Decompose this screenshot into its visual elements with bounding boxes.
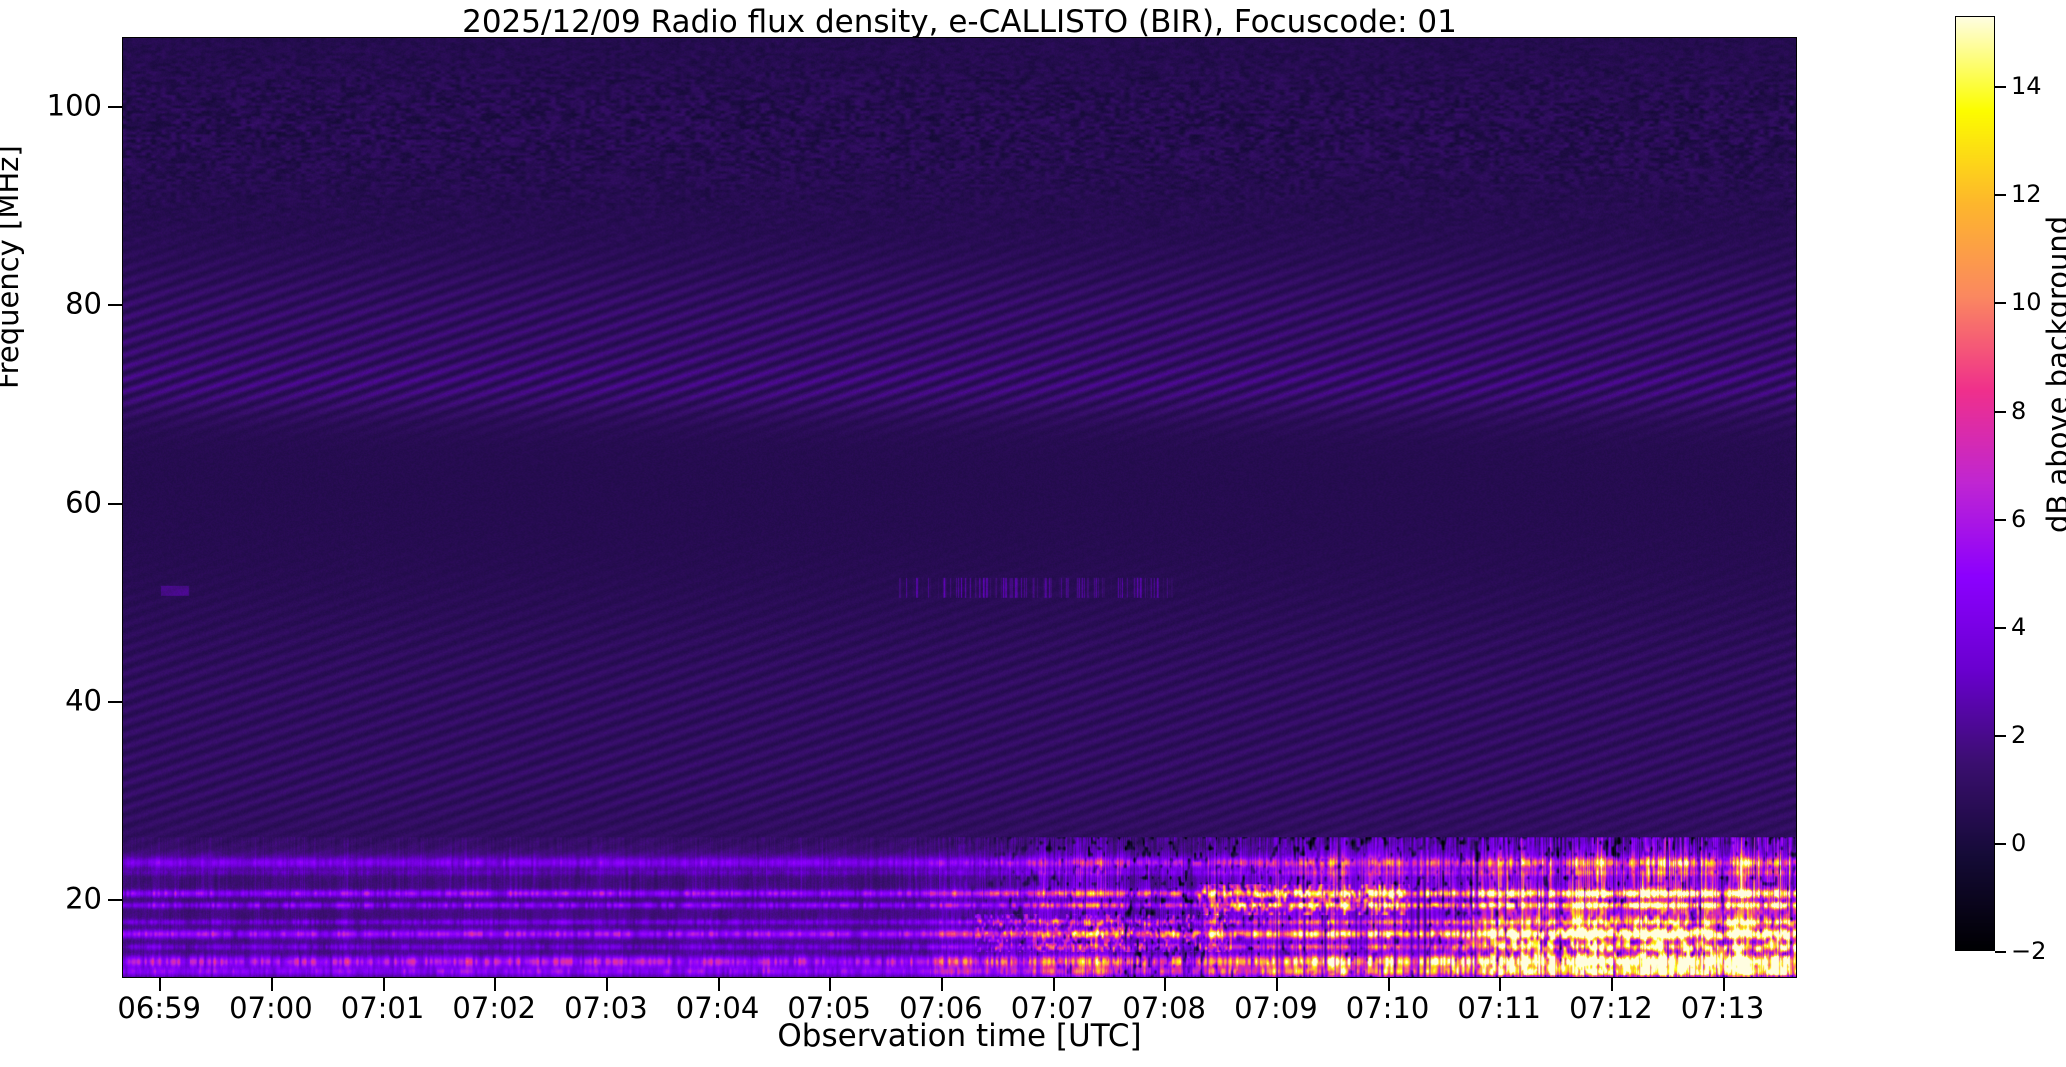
colorbar[interactable]: 14121086420−2 [1955, 16, 1995, 951]
colorbar-label: dB above background [2041, 216, 2066, 533]
y-tick-mark [108, 304, 122, 306]
x-tick-mark [159, 978, 161, 991]
x-axis-label: Observation time [UTC] [122, 1018, 1797, 1054]
colorbar-tick-label: 2 [2011, 723, 2026, 747]
colorbar-gradient [1955, 16, 1995, 951]
x-tick-mark [383, 978, 385, 991]
y-axis-label: Frequency [MHz] [0, 145, 25, 389]
colorbar-tick-label: 8 [2011, 399, 2026, 423]
y-tick-mark [108, 106, 122, 108]
page-title: 2025/12/09 Radio flux density, e-CALLIST… [122, 2, 1797, 42]
colorbar-tick-mark [1995, 843, 2006, 845]
colorbar-tick-label: −2 [2011, 939, 2046, 963]
y-tick-mark [108, 503, 122, 505]
x-tick-mark [1164, 978, 1166, 991]
colorbar-tick-label: 4 [2011, 615, 2026, 639]
y-tick-label: 80 [65, 290, 102, 319]
y-tick-label: 60 [65, 488, 102, 517]
colorbar-tick-mark [1995, 194, 2006, 196]
y-axis: Frequency [MHz] 10080604020 [0, 37, 122, 978]
y-tick-label: 20 [65, 884, 102, 913]
colorbar-tick-mark [1995, 519, 2006, 521]
colorbar-tick-mark [1995, 302, 2006, 304]
spectrogram-image [123, 38, 1796, 977]
colorbar-tick-mark [1995, 627, 2006, 629]
x-tick-mark [1499, 978, 1501, 991]
spectrogram-plot-area[interactable] [122, 37, 1797, 978]
colorbar-canvas [1956, 17, 1994, 950]
spectrogram-figure: 2025/12/09 Radio flux density, e-CALLIST… [0, 0, 2066, 1067]
x-tick-mark [1053, 978, 1055, 991]
x-tick-mark [829, 978, 831, 991]
x-tick-mark [606, 978, 608, 991]
colorbar-tick-label: 12 [2011, 182, 2042, 206]
x-tick-mark [1611, 978, 1613, 991]
x-tick-mark [1388, 978, 1390, 991]
x-tick-mark [718, 978, 720, 991]
colorbar-tick-mark [1995, 86, 2006, 88]
x-tick-mark [494, 978, 496, 991]
colorbar-tick-label: 14 [2011, 74, 2042, 98]
colorbar-tick-label: 10 [2011, 290, 2042, 314]
colorbar-tick-label: 0 [2011, 831, 2026, 855]
colorbar-tick-mark [1995, 735, 2006, 737]
x-tick-mark [271, 978, 273, 991]
y-tick-mark [108, 701, 122, 703]
y-tick-label: 100 [47, 92, 102, 121]
colorbar-tick-mark [1995, 951, 2006, 953]
colorbar-tick-mark [1995, 411, 2006, 413]
x-tick-mark [941, 978, 943, 991]
y-tick-label: 40 [65, 686, 102, 715]
x-tick-mark [1276, 978, 1278, 991]
y-tick-mark [108, 899, 122, 901]
x-tick-mark [1723, 978, 1725, 991]
colorbar-tick-label: 6 [2011, 507, 2026, 531]
